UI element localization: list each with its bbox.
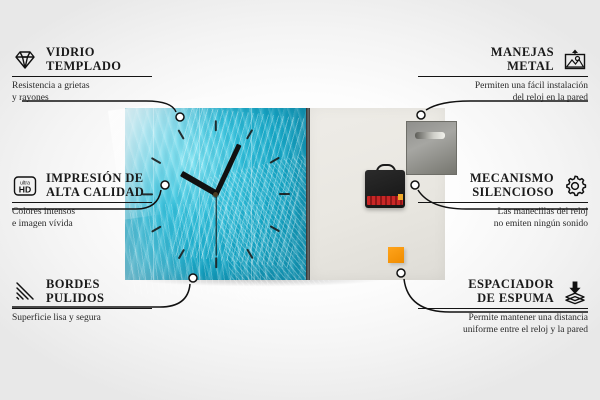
callout-rule — [12, 202, 152, 203]
callout-description: Permiten una fácil instalación del reloj… — [406, 81, 588, 104]
callout-rule — [418, 76, 588, 77]
callout-bordes-pulidos: BORDES PULIDOS Superficie lisa y segura — [12, 278, 164, 325]
glass-band — [199, 108, 200, 280]
svg-text:HD: HD — [19, 184, 31, 194]
callout-title: MECANISMO SILENCIOSO — [470, 172, 554, 199]
callout-description: Superficie lisa y segura — [12, 313, 164, 325]
clock-tick — [177, 248, 185, 259]
diamond-icon — [12, 47, 38, 73]
foam-spacer — [388, 247, 404, 263]
hanging-picture-icon — [562, 47, 588, 73]
callout-mecanismo-silencioso: MECANISMO SILENCIOSO Las manecillas del … — [406, 172, 588, 230]
clock-tick — [177, 130, 185, 141]
callout-rule — [12, 308, 152, 309]
battery-terminal — [398, 194, 403, 200]
clock-tick — [246, 248, 254, 259]
callout-title: MANEJAS METAL — [491, 46, 554, 73]
feather-highlight-2 — [171, 106, 306, 268]
hanger-slot — [415, 132, 445, 139]
ultra-hd-icon: ultra HD — [12, 173, 38, 199]
callout-impresion-alta-calidad: ultra HD IMPRESIÓN DE ALTA CALIDAD Color… — [12, 172, 164, 230]
clock-tick — [279, 193, 290, 195]
clock-second-hand — [215, 194, 216, 256]
infographic-canvas: VIDRIO TEMPLADO Resistencia a grietas y … — [0, 0, 600, 400]
callout-manejas-metal: MANEJAS METAL Permiten una fácil instala… — [406, 46, 588, 104]
clock-minute-hand — [213, 143, 241, 195]
callout-vidrio-templado: VIDRIO TEMPLADO Resistencia a grietas y … — [12, 46, 162, 104]
callout-title: BORDES PULIDOS — [46, 278, 104, 305]
callout-description: Colores intensos e imagen vívida — [12, 207, 164, 230]
callout-title: VIDRIO TEMPLADO — [46, 46, 121, 73]
callout-rule — [418, 308, 588, 309]
callout-rule — [12, 76, 152, 77]
callout-title: IMPRESIÓN DE ALTA CALIDAD — [46, 172, 144, 199]
gear-icon — [562, 173, 588, 199]
clock-center-pin — [213, 192, 218, 197]
clock-tick — [214, 120, 216, 131]
callout-description: Resistencia a grietas y rayones — [12, 81, 162, 104]
clock-tick — [269, 225, 280, 233]
foam-spacer-icon — [562, 279, 588, 305]
callout-title: ESPACIADOR DE ESPUMA — [468, 278, 554, 305]
callout-espaciador-de-espuma: ESPACIADOR DE ESPUMA Permite mantener un… — [402, 278, 588, 336]
product-photo — [125, 108, 445, 280]
polished-edges-icon — [12, 279, 38, 305]
clock-tick — [269, 156, 280, 164]
callout-description: Permite mantener una distancia uniforme … — [402, 313, 588, 336]
clock-tick — [214, 257, 216, 268]
callout-description: Las manecillas del reloj no emiten ningú… — [406, 207, 588, 230]
hanger-plate — [406, 121, 457, 175]
callout-rule — [418, 202, 588, 203]
clock-tick — [246, 130, 254, 141]
